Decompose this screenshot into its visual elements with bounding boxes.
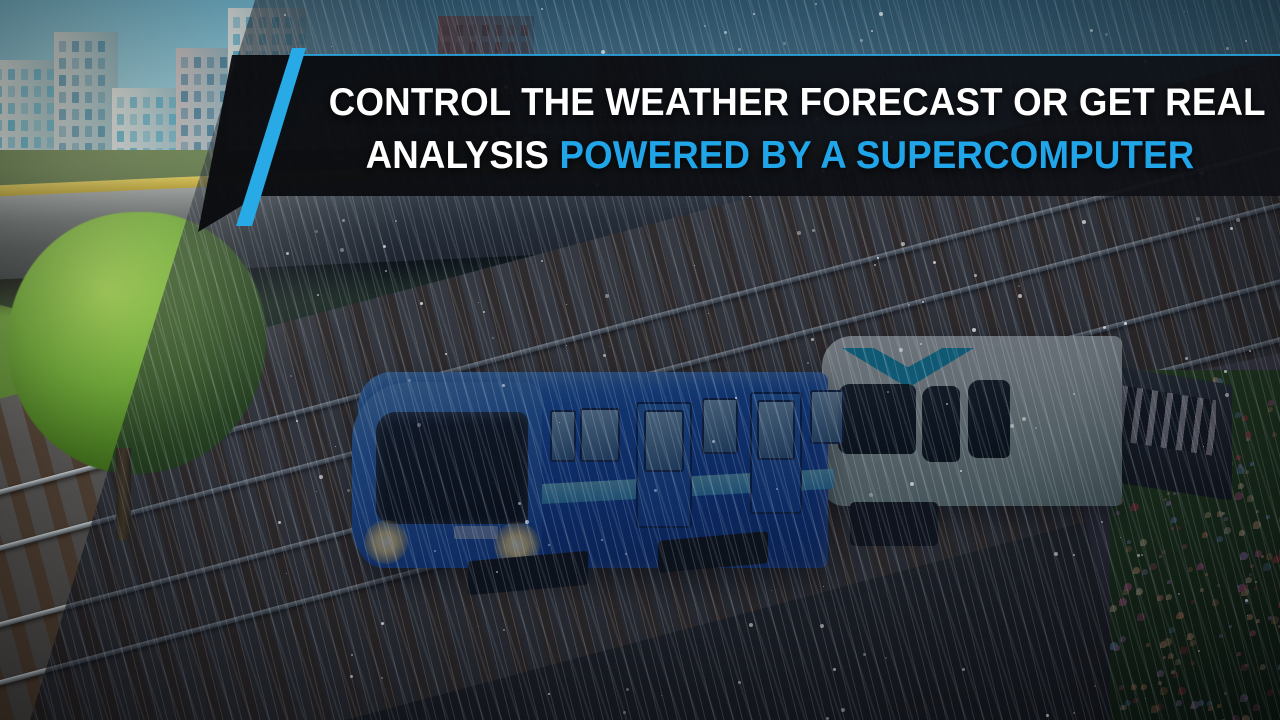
flower bbox=[1237, 585, 1240, 588]
building-window bbox=[130, 97, 137, 108]
building-window bbox=[508, 25, 515, 36]
game-promo-screenshot: CONTROL THE WEATHER FORECAST OR GET REAL… bbox=[0, 0, 1280, 720]
building-window bbox=[47, 103, 54, 114]
flower bbox=[1177, 526, 1181, 530]
building-window bbox=[482, 42, 489, 53]
flower bbox=[1177, 612, 1184, 619]
building-window bbox=[59, 92, 66, 103]
building-window bbox=[285, 34, 292, 45]
flower bbox=[1173, 492, 1176, 495]
blue-train-door-window bbox=[757, 400, 795, 460]
flower bbox=[1219, 634, 1223, 638]
flower bbox=[1191, 661, 1195, 665]
building-window bbox=[8, 86, 15, 97]
flower bbox=[1182, 544, 1187, 549]
building-window bbox=[508, 42, 515, 53]
building-window bbox=[47, 86, 54, 97]
flower bbox=[1235, 492, 1243, 500]
green-tree bbox=[8, 212, 270, 542]
building-window bbox=[59, 126, 66, 137]
blue-commuter-train bbox=[358, 372, 878, 632]
flower bbox=[1160, 687, 1168, 695]
building-window bbox=[72, 58, 79, 69]
building-window bbox=[259, 34, 266, 45]
building-window bbox=[521, 42, 528, 53]
flower bbox=[1254, 587, 1257, 590]
flower bbox=[1167, 492, 1170, 495]
flower bbox=[1261, 555, 1264, 558]
flower bbox=[1205, 573, 1208, 576]
flower bbox=[1178, 687, 1186, 695]
building-window bbox=[0, 120, 2, 131]
building-window bbox=[34, 137, 41, 148]
building-window bbox=[143, 131, 150, 142]
building-window bbox=[117, 97, 124, 108]
building-window bbox=[47, 137, 54, 148]
building-window bbox=[59, 58, 66, 69]
building-window bbox=[143, 97, 150, 108]
blue-train-side-window bbox=[810, 390, 844, 444]
flower bbox=[1197, 563, 1204, 570]
blue-train-side-window bbox=[550, 410, 576, 462]
flower bbox=[1119, 598, 1127, 606]
flower bbox=[1131, 684, 1137, 690]
building-window bbox=[443, 25, 450, 36]
building-window bbox=[72, 41, 79, 52]
flower bbox=[1267, 689, 1274, 696]
building-window bbox=[85, 41, 92, 52]
building-window bbox=[246, 34, 253, 45]
flower bbox=[1266, 515, 1270, 519]
building-window bbox=[143, 114, 150, 125]
flower bbox=[1164, 498, 1167, 501]
flower bbox=[1157, 670, 1164, 677]
building-window bbox=[59, 75, 66, 86]
headline-line-2-plain: ANALYSIS bbox=[366, 134, 560, 177]
flower bbox=[1268, 400, 1274, 406]
building-window bbox=[0, 137, 2, 148]
building-window bbox=[246, 17, 253, 28]
flower bbox=[1253, 704, 1260, 711]
flower bbox=[1166, 501, 1171, 506]
building-window bbox=[207, 74, 214, 85]
building-window bbox=[98, 92, 105, 103]
flower bbox=[1180, 646, 1188, 654]
building-window bbox=[272, 17, 279, 28]
blue-train-side-window bbox=[702, 398, 738, 454]
flower bbox=[1158, 681, 1162, 685]
building-window bbox=[8, 103, 15, 114]
building-window bbox=[47, 120, 54, 131]
flower bbox=[1245, 470, 1249, 474]
flower bbox=[1217, 536, 1223, 542]
flower bbox=[1242, 415, 1248, 421]
flower bbox=[1169, 627, 1175, 633]
building-window bbox=[220, 57, 227, 68]
building-window bbox=[34, 103, 41, 114]
flower bbox=[1256, 510, 1259, 513]
flower bbox=[1224, 692, 1227, 695]
flower bbox=[1202, 532, 1208, 538]
flower bbox=[1245, 585, 1248, 588]
flower bbox=[1238, 483, 1244, 489]
building-window bbox=[169, 114, 176, 125]
flower bbox=[1232, 715, 1240, 720]
building-window bbox=[259, 17, 266, 28]
building-window bbox=[98, 58, 105, 69]
flower bbox=[1120, 705, 1125, 710]
building-window bbox=[0, 103, 2, 114]
flower bbox=[1242, 715, 1250, 720]
flower bbox=[1271, 616, 1279, 624]
building-window bbox=[220, 74, 227, 85]
flower bbox=[1207, 701, 1212, 706]
building-window bbox=[194, 74, 201, 85]
flower bbox=[1268, 616, 1272, 620]
building-window bbox=[8, 69, 15, 80]
flower bbox=[1250, 630, 1256, 636]
headline-line-2-highlight: POWERED BY A SUPERCOMPUTER bbox=[559, 134, 1194, 177]
building-window bbox=[0, 86, 2, 97]
building-window bbox=[21, 120, 28, 131]
flower bbox=[1190, 705, 1194, 709]
flower bbox=[1123, 589, 1129, 595]
building-window bbox=[98, 41, 105, 52]
building-window bbox=[8, 120, 15, 131]
flower bbox=[1268, 407, 1273, 412]
flower bbox=[1133, 698, 1138, 703]
flower bbox=[1188, 567, 1193, 572]
building-window bbox=[495, 25, 502, 36]
building-window bbox=[194, 57, 201, 68]
building-window bbox=[98, 75, 105, 86]
flower bbox=[1245, 431, 1252, 438]
building-window bbox=[47, 69, 54, 80]
flower bbox=[1250, 462, 1254, 466]
flower bbox=[1133, 567, 1140, 574]
flower bbox=[1166, 594, 1172, 600]
building-window bbox=[194, 91, 201, 102]
flower bbox=[1171, 527, 1174, 530]
flower bbox=[1212, 599, 1219, 606]
headline-line-2: ANALYSIS POWERED BY A SUPERCOMPUTER bbox=[329, 129, 1231, 182]
flower bbox=[1224, 517, 1228, 521]
building-window bbox=[59, 41, 66, 52]
flower bbox=[1229, 625, 1232, 628]
building-window bbox=[72, 126, 79, 137]
flower bbox=[1237, 652, 1241, 656]
building-window bbox=[272, 34, 279, 45]
flower bbox=[1171, 670, 1175, 674]
building-window bbox=[85, 58, 92, 69]
flower bbox=[1146, 643, 1150, 647]
building-window bbox=[194, 125, 201, 136]
flower bbox=[1260, 664, 1266, 670]
building-window bbox=[72, 109, 79, 120]
flower bbox=[1142, 569, 1148, 575]
flower bbox=[1191, 600, 1195, 604]
building-window bbox=[72, 92, 79, 103]
building-window bbox=[34, 86, 41, 97]
building-window bbox=[156, 131, 163, 142]
building-window bbox=[156, 114, 163, 125]
building-window bbox=[85, 126, 92, 137]
building-window bbox=[21, 69, 28, 80]
building-window bbox=[181, 57, 188, 68]
flower bbox=[1162, 550, 1166, 554]
flower bbox=[1250, 564, 1254, 568]
building-window bbox=[85, 109, 92, 120]
flower bbox=[1200, 588, 1204, 592]
building-window bbox=[0, 69, 2, 80]
building-window bbox=[34, 69, 41, 80]
building-window bbox=[285, 17, 292, 28]
flower bbox=[1239, 530, 1245, 536]
flower bbox=[1160, 595, 1164, 599]
flower bbox=[1160, 641, 1167, 648]
building-window bbox=[456, 42, 463, 53]
flower bbox=[1151, 705, 1159, 713]
building-window bbox=[8, 137, 15, 148]
flower bbox=[1137, 613, 1145, 621]
blue-train-side-window bbox=[580, 408, 620, 462]
flower bbox=[1168, 653, 1174, 659]
flower bbox=[1125, 700, 1131, 706]
building-window bbox=[156, 97, 163, 108]
flower bbox=[1119, 685, 1124, 690]
flower bbox=[1198, 700, 1204, 706]
flower bbox=[1120, 636, 1126, 642]
building-window bbox=[181, 74, 188, 85]
flower bbox=[1224, 527, 1231, 534]
building-window bbox=[34, 120, 41, 131]
building-window bbox=[85, 92, 92, 103]
building-window bbox=[98, 126, 105, 137]
flower bbox=[1256, 619, 1260, 623]
building-window bbox=[117, 131, 124, 142]
building-window bbox=[85, 75, 92, 86]
flower bbox=[1136, 588, 1143, 595]
building-window bbox=[117, 114, 124, 125]
flower bbox=[1163, 656, 1166, 659]
building-window bbox=[456, 25, 463, 36]
building-window bbox=[98, 109, 105, 120]
flower bbox=[1253, 521, 1261, 529]
building-window bbox=[181, 91, 188, 102]
flower bbox=[1238, 464, 1242, 468]
building-window bbox=[443, 42, 450, 53]
building-window bbox=[169, 97, 176, 108]
flower bbox=[1249, 573, 1252, 576]
banner-top-accent-line bbox=[300, 54, 1280, 56]
building-window bbox=[298, 34, 305, 45]
building-window bbox=[482, 25, 489, 36]
building-window bbox=[233, 17, 240, 28]
flower bbox=[1217, 704, 1221, 708]
flower bbox=[1245, 664, 1248, 667]
flower bbox=[1176, 700, 1182, 706]
metro-side-window bbox=[968, 380, 1010, 458]
building-window bbox=[21, 86, 28, 97]
flower bbox=[1190, 640, 1196, 646]
flower bbox=[1175, 659, 1181, 665]
blue-train-windshield bbox=[376, 412, 528, 524]
building-window bbox=[521, 25, 528, 36]
flower bbox=[1235, 412, 1241, 418]
building-window bbox=[469, 25, 476, 36]
building-window bbox=[21, 103, 28, 114]
flower bbox=[1240, 694, 1248, 702]
flower bbox=[1114, 645, 1120, 651]
flower bbox=[1266, 553, 1273, 560]
flower bbox=[1236, 455, 1241, 460]
building-window bbox=[72, 75, 79, 86]
flower bbox=[1187, 633, 1194, 640]
blue-train-door-window bbox=[644, 410, 684, 472]
building-window bbox=[207, 91, 214, 102]
flower bbox=[1245, 600, 1249, 604]
building-window bbox=[233, 34, 240, 45]
building-window bbox=[194, 108, 201, 119]
flower bbox=[1273, 556, 1280, 563]
building-window bbox=[495, 42, 502, 53]
building-window bbox=[130, 131, 137, 142]
building-window bbox=[59, 109, 66, 120]
building-window bbox=[469, 42, 476, 53]
flower bbox=[1247, 614, 1253, 620]
building-window bbox=[181, 125, 188, 136]
flower bbox=[1263, 563, 1271, 571]
flower bbox=[1246, 577, 1252, 583]
metro-cab-door-window bbox=[922, 386, 960, 462]
flower bbox=[1167, 580, 1171, 584]
building-window bbox=[207, 125, 214, 136]
train-front-logo bbox=[454, 526, 498, 539]
flower bbox=[1171, 517, 1177, 523]
flower bbox=[1247, 495, 1254, 502]
headlight bbox=[364, 520, 408, 564]
building-window bbox=[298, 17, 305, 28]
headline-line-1: CONTROL THE WEATHER FORECAST OR GET REAL bbox=[329, 76, 1231, 129]
flower bbox=[1217, 511, 1223, 517]
headline-text: CONTROL THE WEATHER FORECAST OR GET REAL… bbox=[329, 76, 1231, 182]
flower bbox=[1208, 706, 1213, 711]
building-window bbox=[207, 108, 214, 119]
building-window bbox=[169, 131, 176, 142]
flower bbox=[1217, 584, 1220, 587]
flower bbox=[1110, 605, 1117, 612]
building-window bbox=[130, 114, 137, 125]
flower bbox=[1141, 684, 1147, 690]
building-window bbox=[21, 137, 28, 148]
flower bbox=[1205, 512, 1211, 518]
building-window bbox=[181, 108, 188, 119]
flower bbox=[1255, 550, 1262, 557]
flower bbox=[1240, 552, 1248, 560]
building-window bbox=[207, 57, 214, 68]
flower bbox=[1272, 432, 1277, 437]
